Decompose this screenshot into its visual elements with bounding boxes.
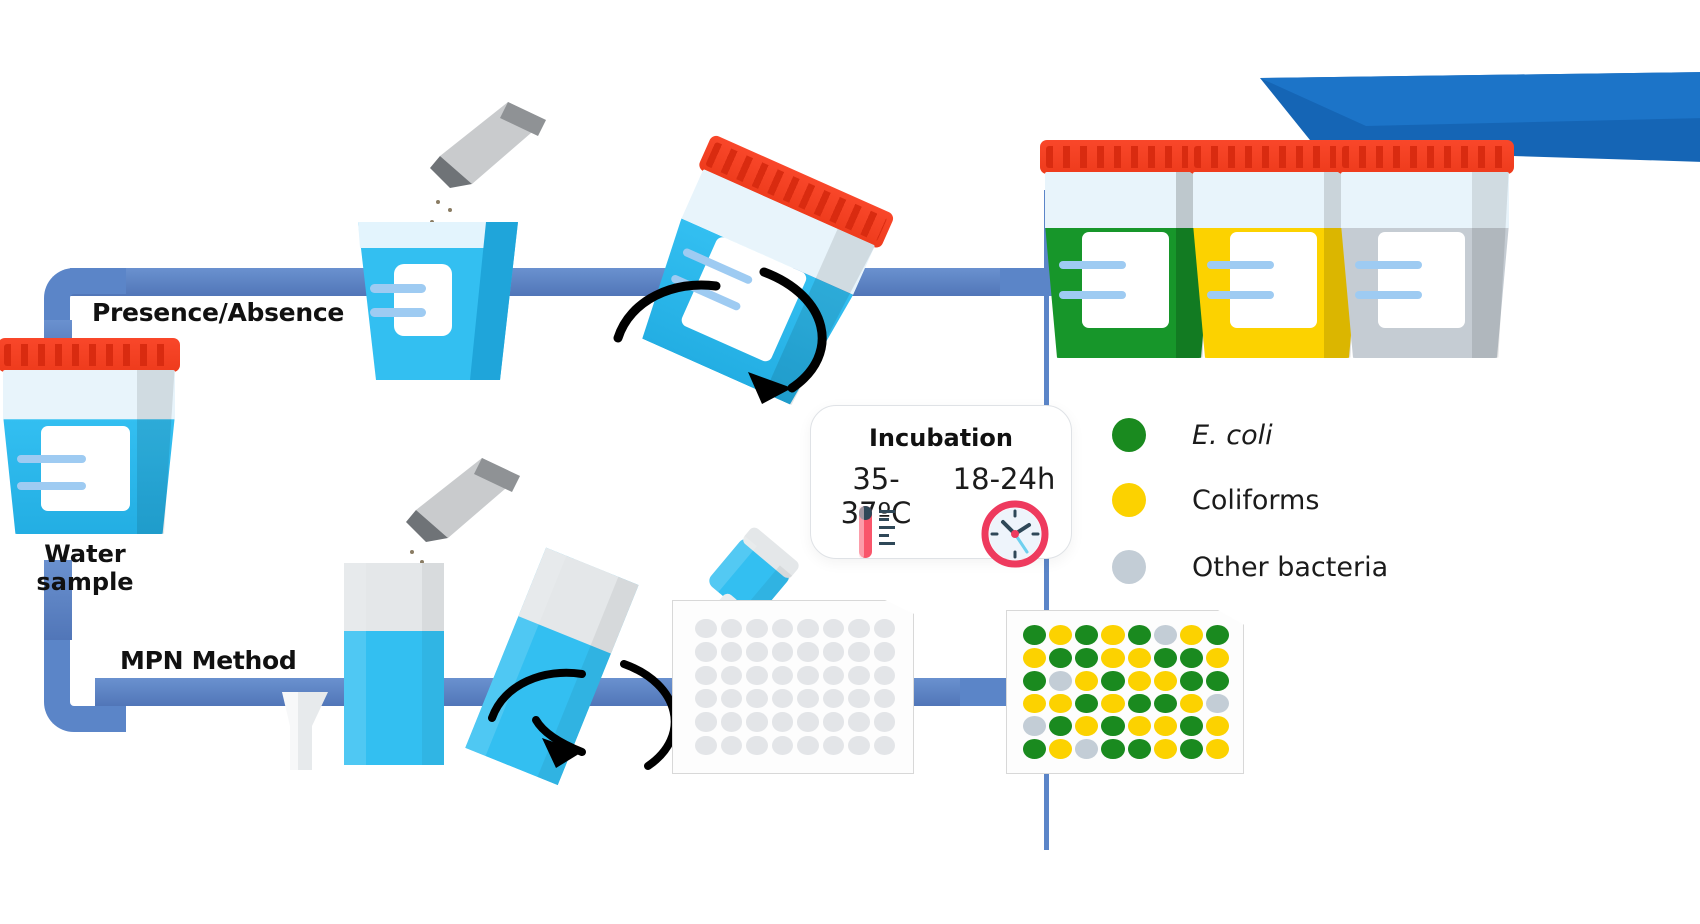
tray-well bbox=[823, 736, 845, 755]
tray-well bbox=[848, 712, 870, 731]
mpn-tray-empty-wells bbox=[695, 619, 895, 755]
pipe-elbow-lower bbox=[44, 626, 126, 732]
tray-well bbox=[848, 642, 870, 661]
tray-well-yellow bbox=[1075, 716, 1098, 736]
bottle-mpn-lower bbox=[344, 563, 444, 765]
tray-well bbox=[746, 666, 768, 685]
jar-water-sample bbox=[0, 338, 180, 534]
incubation-duration: 18-24h bbox=[945, 462, 1063, 496]
tray-well bbox=[823, 666, 845, 685]
tray-well bbox=[874, 666, 896, 685]
tray-well-yellow bbox=[1154, 671, 1177, 691]
tray-well-green bbox=[1101, 739, 1124, 759]
jar-result-other bbox=[1336, 140, 1514, 358]
tray-well-yellow bbox=[1049, 694, 1072, 714]
tray-well bbox=[797, 666, 819, 685]
tray-well bbox=[797, 712, 819, 731]
legend-dot-e-coli bbox=[1112, 418, 1146, 452]
tray-well-green bbox=[1180, 739, 1203, 759]
tray-well-yellow bbox=[1075, 671, 1098, 691]
tray-well-green bbox=[1101, 671, 1124, 691]
tray-well bbox=[746, 712, 768, 731]
reagent-sachet-icon-upper bbox=[400, 92, 550, 202]
tray-well-grey bbox=[1154, 625, 1177, 645]
tray-well-yellow bbox=[1206, 739, 1229, 759]
tray-well-green bbox=[1154, 694, 1177, 714]
flow-label-presence-absence: Presence/Absence bbox=[92, 298, 344, 327]
tray-well bbox=[721, 666, 743, 685]
rotation-arrow-icon-upper bbox=[596, 262, 896, 414]
tray-well-green bbox=[1023, 625, 1046, 645]
tray-well-green bbox=[1128, 694, 1151, 714]
jar-cap bbox=[1336, 140, 1514, 174]
legend-label-other-bacteria: Other bacteria bbox=[1192, 552, 1388, 583]
mpn-tray-empty bbox=[672, 600, 914, 774]
tray-well-green bbox=[1128, 625, 1151, 645]
water-sample-label: Water sample bbox=[0, 540, 170, 597]
water-sample-label-line1: Water bbox=[0, 540, 170, 568]
tray-well-yellow bbox=[1128, 671, 1151, 691]
legend-dot-other-bacteria bbox=[1112, 550, 1146, 584]
tray-well bbox=[797, 619, 819, 638]
tray-well bbox=[823, 689, 845, 708]
tray-well bbox=[695, 666, 717, 685]
tray-well-grey bbox=[1049, 671, 1072, 691]
jar-body bbox=[3, 370, 174, 534]
tray-well-grey bbox=[1206, 694, 1229, 714]
tray-well-green bbox=[1101, 716, 1124, 736]
funnel-icon bbox=[272, 692, 338, 770]
reagent-sachet-icon-lower bbox=[378, 448, 523, 556]
tray-well bbox=[772, 619, 794, 638]
thermometer-icon bbox=[843, 504, 909, 560]
tray-well bbox=[772, 666, 794, 685]
tray-well-yellow bbox=[1154, 716, 1177, 736]
tray-well-yellow bbox=[1128, 648, 1151, 668]
legend-item-coliforms: Coliforms bbox=[1112, 483, 1319, 517]
tray-well-green bbox=[1180, 648, 1203, 668]
tray-well-green bbox=[1049, 648, 1072, 668]
tray-well bbox=[746, 736, 768, 755]
legend-label-e-coli: E. coli bbox=[1192, 420, 1273, 451]
diagram-canvas: Presence/Absence MPN Method Water sample bbox=[0, 0, 1700, 924]
legend-label-coliforms: Coliforms bbox=[1192, 485, 1319, 516]
tray-well bbox=[721, 736, 743, 755]
tray-well bbox=[797, 689, 819, 708]
tray-well-green bbox=[1023, 671, 1046, 691]
tray-well bbox=[721, 642, 743, 661]
tray-well-green bbox=[1154, 648, 1177, 668]
tray-well-yellow bbox=[1101, 694, 1124, 714]
tray-well bbox=[746, 619, 768, 638]
tray-well-yellow bbox=[1023, 648, 1046, 668]
clock-icon bbox=[979, 498, 1051, 570]
tray-well-green bbox=[1075, 648, 1098, 668]
water-sample-label-line2: sample bbox=[0, 568, 170, 596]
tray-well-green bbox=[1180, 716, 1203, 736]
tray-well bbox=[823, 619, 845, 638]
tray-well bbox=[721, 619, 743, 638]
jar-cap bbox=[0, 338, 180, 372]
tray-well bbox=[823, 712, 845, 731]
tray-well bbox=[848, 689, 870, 708]
tray-well-yellow bbox=[1049, 625, 1072, 645]
tray-well-yellow bbox=[1154, 739, 1177, 759]
tray-well-yellow bbox=[1049, 739, 1072, 759]
incubation-card: Incubation 35-37ºC 18-24h bbox=[810, 405, 1072, 559]
mpn-tray-result bbox=[1006, 610, 1244, 774]
tray-well bbox=[848, 736, 870, 755]
mpn-tray-result-wells bbox=[1023, 625, 1229, 759]
tray-well bbox=[874, 712, 896, 731]
tray-well-yellow bbox=[1101, 648, 1124, 668]
tray-well-green bbox=[1206, 671, 1229, 691]
tray-well-yellow bbox=[1206, 648, 1229, 668]
incubation-title: Incubation bbox=[811, 424, 1071, 452]
jar-body bbox=[1341, 172, 1508, 358]
legend-dot-coliforms bbox=[1112, 483, 1146, 517]
tray-well-yellow bbox=[1023, 694, 1046, 714]
tray-well bbox=[772, 712, 794, 731]
legend-item-other-bacteria: Other bacteria bbox=[1112, 550, 1388, 584]
tray-well-grey bbox=[1023, 716, 1046, 736]
tray-well bbox=[874, 689, 896, 708]
legend-item-e-coli: E. coli bbox=[1112, 418, 1273, 452]
tray-well-yellow bbox=[1206, 716, 1229, 736]
tray-well bbox=[695, 619, 717, 638]
tray-well bbox=[695, 689, 717, 708]
tray-well bbox=[772, 736, 794, 755]
tray-well-green bbox=[1049, 716, 1072, 736]
tray-well-yellow bbox=[1128, 716, 1151, 736]
tray-well-grey bbox=[1075, 739, 1098, 759]
tray-well bbox=[746, 689, 768, 708]
tray-well-green bbox=[1075, 625, 1098, 645]
tray-well bbox=[874, 642, 896, 661]
tray-well bbox=[848, 666, 870, 685]
tray-well bbox=[721, 689, 743, 708]
tray-well-green bbox=[1128, 739, 1151, 759]
tray-well bbox=[772, 642, 794, 661]
tray-well bbox=[721, 712, 743, 731]
flow-label-mpn-method: MPN Method bbox=[120, 646, 296, 675]
tray-well-yellow bbox=[1101, 625, 1124, 645]
tray-well bbox=[848, 619, 870, 638]
tray-well-green bbox=[1180, 671, 1203, 691]
tray-well-green bbox=[1075, 694, 1098, 714]
tray-well bbox=[695, 736, 717, 755]
tray-well bbox=[746, 642, 768, 661]
tray-well bbox=[797, 736, 819, 755]
tray-well bbox=[874, 619, 896, 638]
tray-well bbox=[695, 642, 717, 661]
tray-well bbox=[823, 642, 845, 661]
tray-well bbox=[772, 689, 794, 708]
beaker-upper bbox=[358, 222, 518, 380]
tray-well-yellow bbox=[1180, 625, 1203, 645]
tray-well bbox=[874, 736, 896, 755]
tray-well bbox=[797, 642, 819, 661]
tray-well-green bbox=[1023, 739, 1046, 759]
tray-well bbox=[695, 712, 717, 731]
tray-well-green bbox=[1206, 625, 1229, 645]
tray-well-yellow bbox=[1180, 694, 1203, 714]
